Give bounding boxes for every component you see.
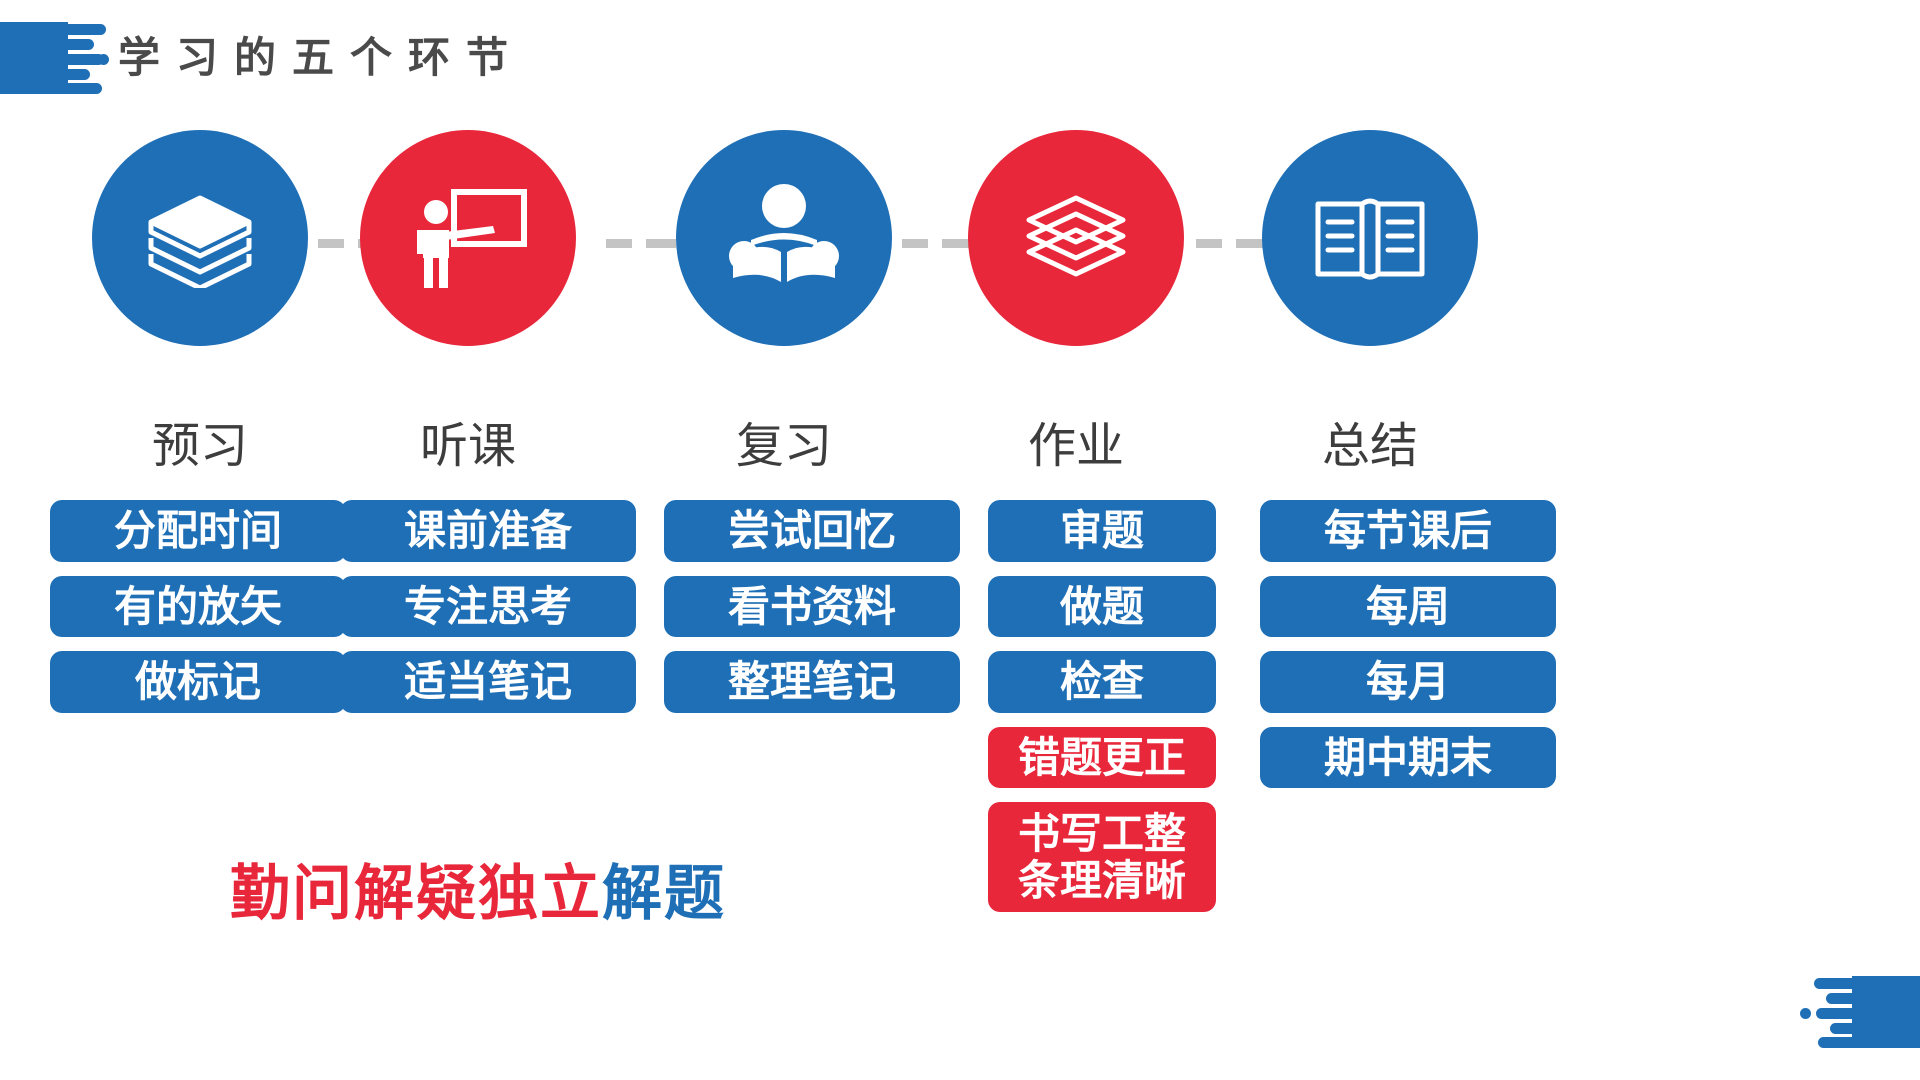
detail-pill[interactable]: 审题: [988, 500, 1216, 562]
decoration-dot: [1800, 1008, 1811, 1019]
stage-label-5: 总结: [1220, 412, 1520, 482]
detail-pill[interactable]: 每节课后: [1260, 500, 1556, 562]
decoration-bar: [60, 39, 94, 50]
detail-pill[interactable]: 检查: [988, 651, 1216, 713]
detail-column-5: 每节课后 每周 每月 期中期末: [1258, 500, 1558, 802]
detail-pill[interactable]: 错题更正: [988, 727, 1216, 789]
step-circle-4[interactable]: [968, 130, 1184, 346]
person-reading-icon: [727, 184, 841, 292]
detail-pill[interactable]: 每周: [1260, 576, 1556, 638]
process-flow-row: [0, 130, 1920, 410]
decoration-block: [0, 22, 68, 94]
footer-decoration-right: [1808, 976, 1920, 1048]
detail-pill[interactable]: 每月: [1260, 651, 1556, 713]
detail-pill[interactable]: 有的放矢: [50, 576, 346, 638]
detail-pill[interactable]: 适当笔记: [340, 651, 636, 713]
detail-column-3: 尝试回忆 看书资料 整理笔记: [662, 500, 962, 727]
stage-label-row: 预习 听课 复习 作业 总结: [0, 412, 1920, 482]
stage-label-4: 作业: [926, 412, 1226, 482]
detail-column-1: 分配时间 有的放矢 做标记: [48, 500, 348, 727]
detail-pill[interactable]: 做题: [988, 576, 1216, 638]
detail-column-4: 审题 做题 检查 错题更正 书写工整 条理清晰: [952, 500, 1252, 926]
decoration-bar: [60, 83, 102, 94]
detail-column-2: 课前准备 专注思考 适当笔记: [338, 500, 638, 727]
book-stack-icon: [141, 188, 259, 288]
detail-pill[interactable]: 专注思考: [340, 576, 636, 638]
decoration-bar: [60, 69, 90, 80]
slide-canvas: 学习的五个环节: [0, 0, 1920, 1080]
open-book-icon: [1312, 190, 1428, 286]
decoration-bar: [1814, 978, 1860, 989]
header-decoration-left: [0, 22, 112, 94]
decoration-bar: [1826, 993, 1860, 1004]
decoration-bar: [1816, 1008, 1860, 1019]
step-circle-2[interactable]: [360, 130, 576, 346]
slogan: 勤问解疑独立解题: [230, 845, 930, 932]
page-title: 学习的五个环节: [118, 22, 524, 94]
step-circle-1[interactable]: [92, 130, 308, 346]
teacher-blackboard-icon: [409, 186, 527, 290]
step-circle-3[interactable]: [676, 130, 892, 346]
slogan-part-blue: 解题: [602, 860, 726, 927]
stage-label-1: 预习: [50, 412, 350, 482]
decoration-bar: [60, 24, 106, 35]
detail-pill[interactable]: 期中期末: [1260, 727, 1556, 789]
slogan-part-red: 勤问解疑独立: [230, 860, 602, 927]
step-circle-5[interactable]: [1262, 130, 1478, 346]
detail-pill[interactable]: 整理笔记: [664, 651, 960, 713]
stacked-books-icon: [1017, 190, 1135, 286]
detail-pill[interactable]: 做标记: [50, 651, 346, 713]
decoration-bar: [1818, 1037, 1860, 1048]
detail-pill[interactable]: 书写工整 条理清晰: [988, 802, 1216, 912]
detail-pill[interactable]: 课前准备: [340, 500, 636, 562]
detail-pill[interactable]: 看书资料: [664, 576, 960, 638]
detail-pill[interactable]: 分配时间: [50, 500, 346, 562]
stage-label-2: 听课: [318, 412, 618, 482]
decoration-bar: [1830, 1023, 1860, 1034]
decoration-dot: [98, 54, 109, 65]
stage-label-3: 复习: [634, 412, 934, 482]
detail-pill[interactable]: 尝试回忆: [664, 500, 960, 562]
decoration-block: [1852, 976, 1920, 1048]
